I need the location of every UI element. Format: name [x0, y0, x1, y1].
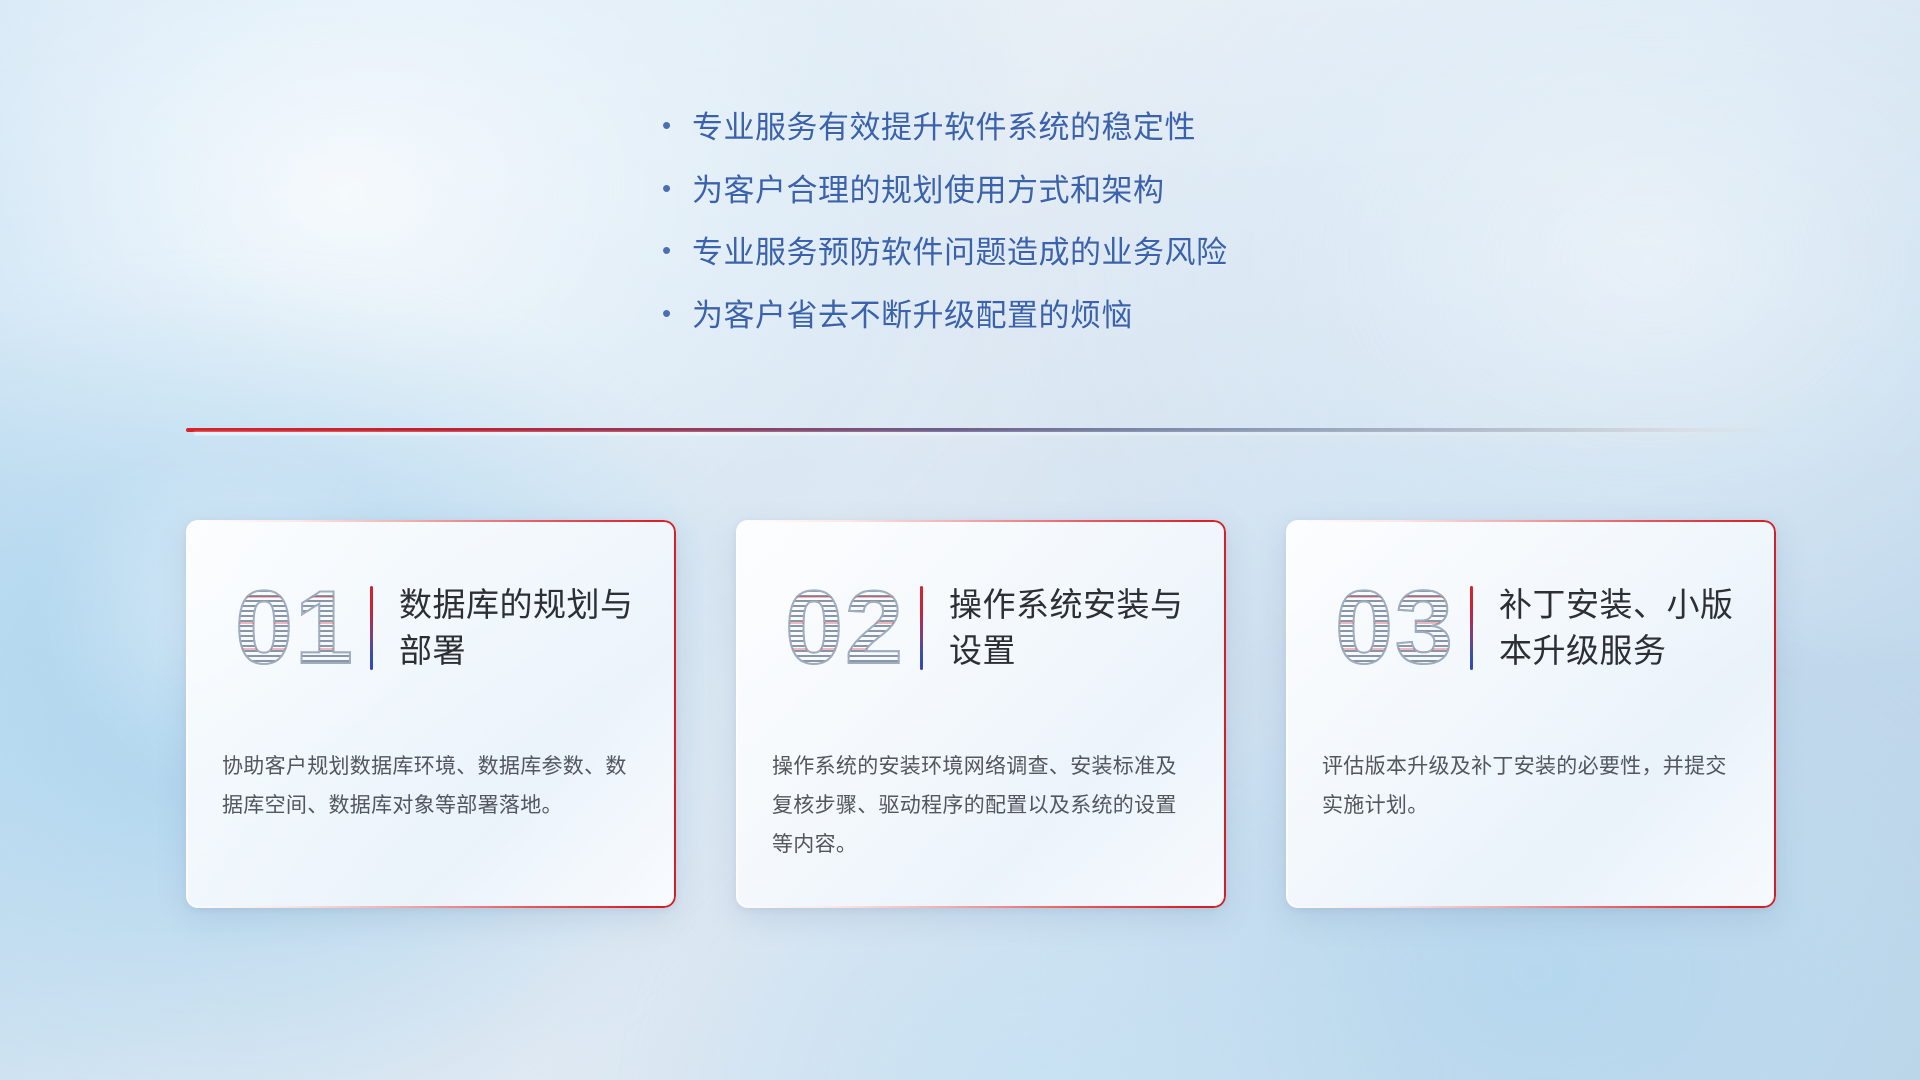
card-accent-bar-icon	[1470, 586, 1473, 670]
slide-root: • 专业服务有效提升软件系统的稳定性 • 为客户合理的规划使用方式和架构 • 专…	[0, 0, 1920, 1080]
section-divider	[186, 428, 1776, 435]
bullet-dot-icon: •	[662, 173, 692, 205]
feature-card-01[interactable]: 01 01 数据库的规划与部署 协助客户规划数据库环境、数据库参数、数据库空间、…	[186, 520, 676, 908]
card-title: 补丁安装、小版本升级服务	[1499, 582, 1745, 673]
card-accent-bar-icon	[370, 586, 373, 670]
card-header: 03 03 补丁安装、小版本升级服务	[1286, 520, 1776, 736]
bullet-item: • 专业服务预防软件问题造成的业务风险	[662, 235, 1228, 272]
bullet-item-text: 专业服务预防软件问题造成的业务风险	[692, 235, 1228, 272]
card-number-tint: 03	[1320, 570, 1470, 686]
card-body-text: 协助客户规划数据库环境、数据库参数、数据库空间、数据库对象等部署落地。	[222, 748, 642, 826]
bullet-item-text: 专业服务有效提升软件系统的稳定性	[692, 110, 1196, 147]
card-number-striped: 01 01	[220, 570, 370, 686]
card-body-text: 评估版本升级及补丁安装的必要性，并提交实施计划。	[1322, 748, 1742, 826]
card-header: 01 01 数据库的规划与部署	[186, 520, 676, 736]
bullet-dot-icon: •	[662, 298, 692, 330]
bullet-item: • 为客户省去不断升级配置的烦恼	[662, 298, 1228, 335]
card-number-tint: 02	[770, 570, 920, 686]
bullet-dot-icon: •	[662, 110, 692, 142]
card-number-striped: 02 02	[770, 570, 920, 686]
feature-card-02[interactable]: 02 02 操作系统安装与设置 操作系统的安装环境网络调查、安装标准及复核步骤、…	[736, 520, 1226, 908]
bullet-item: • 为客户合理的规划使用方式和架构	[662, 173, 1228, 210]
bullet-item-text: 为客户省去不断升级配置的烦恼	[692, 298, 1133, 335]
card-number-tint: 01	[220, 570, 370, 686]
card-header: 02 02 操作系统安装与设置	[736, 520, 1226, 736]
bullet-dot-icon: •	[662, 235, 692, 267]
card-title: 数据库的规划与部署	[399, 582, 645, 673]
bullet-list: • 专业服务有效提升软件系统的稳定性 • 为客户合理的规划使用方式和架构 • 专…	[662, 110, 1228, 334]
divider-highlight-line	[194, 432, 1768, 435]
card-number-striped: 03 03	[1320, 570, 1470, 686]
bullet-item-text: 为客户合理的规划使用方式和架构	[692, 173, 1165, 210]
card-body-text: 操作系统的安装环境网络调查、安装标准及复核步骤、驱动程序的配置以及系统的设置等内…	[772, 748, 1192, 865]
card-accent-bar-icon	[920, 586, 923, 670]
bullet-item: • 专业服务有效提升软件系统的稳定性	[662, 110, 1228, 147]
card-row: 01 01 数据库的规划与部署 协助客户规划数据库环境、数据库参数、数据库空间、…	[186, 520, 1776, 908]
card-title: 操作系统安装与设置	[949, 582, 1195, 673]
feature-card-03[interactable]: 03 03 补丁安装、小版本升级服务 评估版本升级及补丁安装的必要性，并提交实施…	[1286, 520, 1776, 908]
